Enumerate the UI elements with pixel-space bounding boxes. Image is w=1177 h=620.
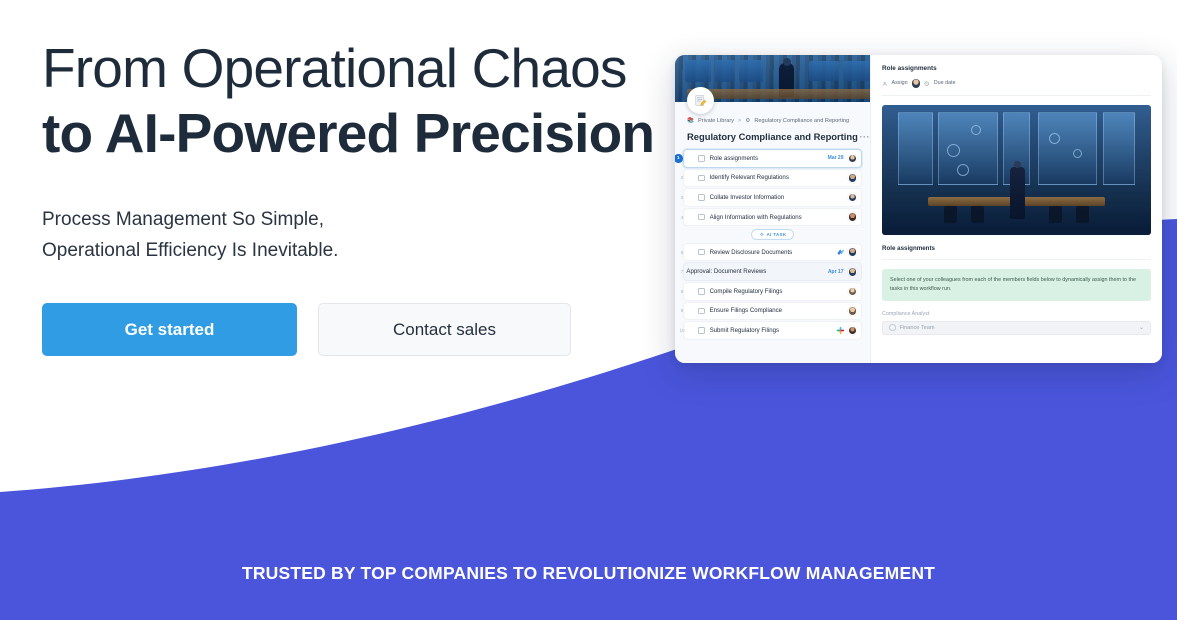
app-workflow-pane: 📚 Private Library > ⚙ Regulatory Complia… <box>675 55 870 363</box>
task-label: Collate Investor Information <box>710 194 848 201</box>
breadcrumb-separator: > <box>738 118 741 124</box>
library-icon: 📚 <box>687 118 694 124</box>
breadcrumb-current[interactable]: Regulatory Compliance and Reporting <box>754 118 849 124</box>
task-assignee-avatar[interactable] <box>848 212 858 222</box>
task-assignee-avatar[interactable] <box>848 193 858 203</box>
subheading-line-2: Operational Efficiency Is Inevitable. <box>42 235 662 266</box>
task-assignee-avatar[interactable] <box>848 267 858 277</box>
task-assignee-avatar[interactable] <box>848 154 858 164</box>
ai-sparkle-icon <box>759 232 765 238</box>
integration-app-icon[interactable] <box>836 248 845 257</box>
breadcrumb-root[interactable]: Private Library <box>698 118 734 124</box>
task-row[interactable]: 6Review Disclosure Documents <box>683 243 862 262</box>
task-row[interactable]: 7Approval: Document ReviewsApr 17 <box>683 262 862 281</box>
subheading-line-1: Process Management So Simple, <box>42 204 662 235</box>
ai-task-badge-wrap: AI TASK <box>675 229 870 241</box>
get-started-button[interactable]: Get started <box>42 303 297 356</box>
task-label: Identify Relevant Regulations <box>710 174 848 181</box>
task-label: Align Information with Regulations <box>710 214 848 221</box>
task-row[interactable]: 4Align Information with Regulations <box>683 208 862 227</box>
task-checkbox[interactable] <box>698 175 705 182</box>
compliance-analyst-select[interactable]: Finance Team ⌄ <box>882 321 1151 335</box>
workflow-pencil-icon <box>687 87 714 114</box>
task-row[interactable]: 2Identify Relevant Regulations <box>683 169 862 188</box>
task-label: Compile Regulatory Filings <box>710 288 848 295</box>
breadcrumb[interactable]: 📚 Private Library > ⚙ Regulatory Complia… <box>687 118 870 124</box>
ai-task-badge-label: AI TASK <box>767 232 787 237</box>
slack-icon[interactable] <box>836 326 845 335</box>
more-options-icon[interactable]: ··· <box>860 132 871 142</box>
compliance-analyst-value: Finance Team <box>900 325 935 331</box>
task-index: 9 <box>676 308 688 313</box>
task-index: 8 <box>676 289 688 294</box>
task-label: Role assignments <box>710 155 828 162</box>
task-index: 1 <box>675 154 683 163</box>
task-due-date: Apr 17 <box>828 269 844 275</box>
task-checkbox[interactable] <box>698 288 705 295</box>
task-row[interactable]: 8Compile Regulatory Filings <box>683 282 862 301</box>
task-assignee-avatar[interactable] <box>848 173 858 183</box>
task-label: Review Disclosure Documents <box>710 249 836 256</box>
ai-task-badge[interactable]: AI TASK <box>751 229 795 241</box>
contact-sales-button[interactable]: Contact sales <box>318 303 571 356</box>
task-list: 1Role assignmentsMar 292Identify Relevan… <box>675 149 870 340</box>
task-checkbox[interactable] <box>698 249 705 256</box>
product-screenshot-card: 📚 Private Library > ⚙ Regulatory Complia… <box>675 55 1162 363</box>
task-checkbox[interactable] <box>698 194 705 201</box>
hero-subheading: Process Management So Simple, Operationa… <box>42 204 662 266</box>
detail-cover-image <box>882 105 1151 235</box>
task-assignee-avatar[interactable] <box>848 306 858 316</box>
task-row[interactable]: 3Collate Investor Information <box>683 188 862 207</box>
headline-line-1: From Operational Chaos <box>42 36 662 101</box>
page-root: From Operational Chaos to AI-Powered Pre… <box>0 0 1177 620</box>
workflow-icon: ⚙ <box>745 118 750 124</box>
task-checkbox[interactable] <box>698 155 705 162</box>
task-index: 4 <box>676 215 688 220</box>
detail-field-label: Compliance Analyst <box>882 311 1151 317</box>
detail-title: Role assignments <box>882 65 1151 72</box>
chevron-down-icon[interactable]: ⌄ <box>1139 324 1144 331</box>
task-detail-pane: Role assignments Assign Due date <box>870 55 1162 363</box>
task-index: 10 <box>676 328 688 333</box>
task-row[interactable]: 10Submit Regulatory Filings <box>683 321 862 340</box>
task-label: Submit Regulatory Filings <box>710 327 836 334</box>
task-index: 3 <box>676 195 688 200</box>
task-assignee-avatar[interactable] <box>848 326 858 336</box>
headline-line-2: to AI-Powered Precision <box>42 101 662 166</box>
trusted-by-banner: TRUSTED BY TOP COMPANIES TO REVOLUTIONIZ… <box>0 563 1177 584</box>
cta-button-row: Get started Contact sales <box>42 303 662 356</box>
task-row[interactable]: 1Role assignmentsMar 29 <box>683 149 862 168</box>
task-assignee-avatar[interactable] <box>848 287 858 297</box>
member-avatar-placeholder-icon <box>889 324 896 331</box>
task-index: 7 <box>676 269 688 274</box>
task-index: 6 <box>676 250 688 255</box>
detail-meta-row: Assign Due date <box>882 79 1151 96</box>
clock-icon <box>924 81 930 87</box>
workflow-title-text: Regulatory Compliance and Reporting <box>687 131 858 142</box>
task-index: 2 <box>676 175 688 180</box>
detail-section-title: Role assignments <box>882 245 1151 260</box>
hero-section: From Operational Chaos to AI-Powered Pre… <box>42 36 662 356</box>
page-title: From Operational Chaos to AI-Powered Pre… <box>42 36 662 166</box>
assign-label[interactable]: Assign <box>892 80 908 86</box>
task-label: Approval: Document Reviews <box>686 268 828 275</box>
task-checkbox[interactable] <box>698 327 705 334</box>
task-checkbox[interactable] <box>698 308 705 315</box>
task-label: Ensure Filings Compliance <box>710 307 848 314</box>
task-assignee-avatar[interactable] <box>848 247 858 257</box>
assignee-avatar[interactable] <box>912 79 921 88</box>
detail-info-note: Select one of your colleagues from each … <box>882 269 1151 301</box>
assignee-icon <box>882 81 888 87</box>
task-row[interactable]: 9Ensure Filings Compliance <box>683 302 862 321</box>
workflow-title: Regulatory Compliance and Reporting ··· <box>687 131 870 142</box>
due-date-label[interactable]: Due date <box>934 80 956 86</box>
task-checkbox[interactable] <box>698 214 705 221</box>
task-due-date: Mar 29 <box>828 155 844 161</box>
